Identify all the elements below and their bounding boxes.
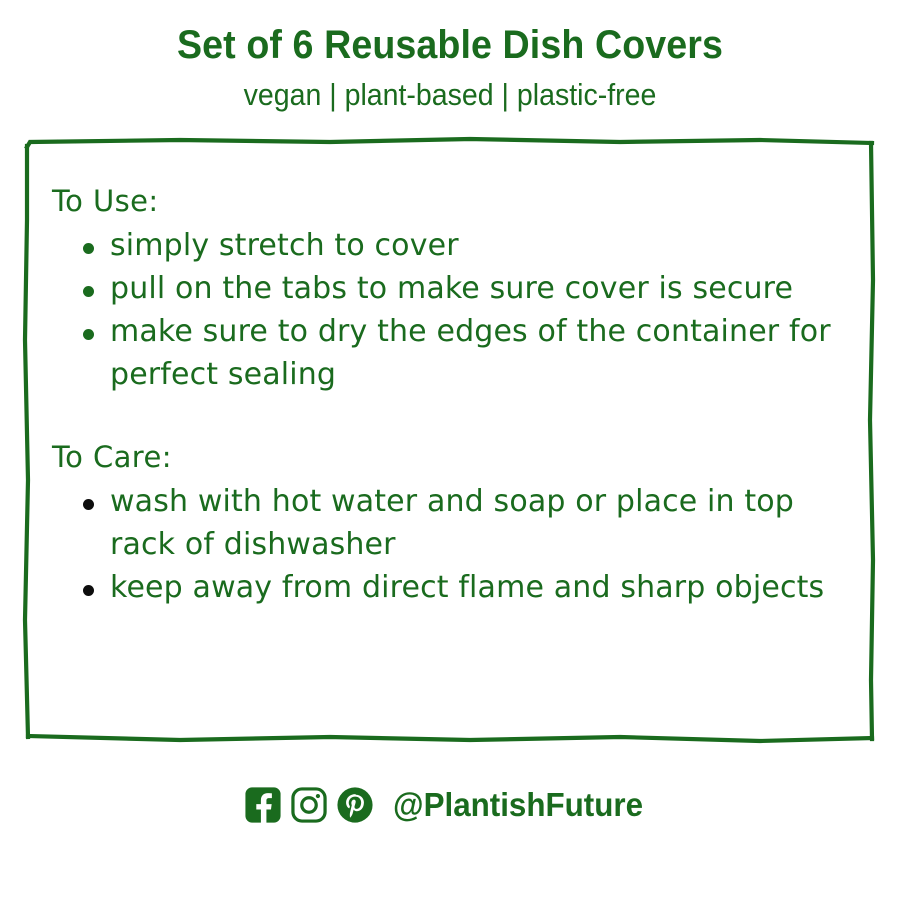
list-to-use: simply stretch to cover pull on the tabs…: [52, 224, 852, 396]
card-body: To Use: simply stretch to cover pull on …: [52, 182, 852, 609]
header: Set of 6 Reusable Dish Covers vegan | pl…: [0, 0, 900, 113]
facebook-icon[interactable]: [244, 786, 282, 824]
section-to-care: To Care: wash with hot water and soap or…: [52, 438, 852, 609]
list-item: keep away from direct flame and sharp ob…: [52, 566, 852, 609]
page-title: Set of 6 Reusable Dish Covers: [27, 0, 873, 68]
product-care-card: Set of 6 Reusable Dish Covers vegan | pl…: [0, 0, 900, 900]
section-heading-to-use: To Use:: [52, 182, 852, 220]
social-handle[interactable]: @PlantishFuture: [393, 786, 643, 824]
list-item: simply stretch to cover: [52, 224, 852, 267]
list-item: wash with hot water and soap or place in…: [52, 480, 852, 566]
section-to-use: To Use: simply stretch to cover pull on …: [52, 182, 852, 396]
list-item: pull on the tabs to make sure cover is s…: [52, 267, 852, 310]
instagram-icon[interactable]: [290, 786, 328, 824]
list-item: make sure to dry the edges of the contai…: [52, 310, 852, 396]
list-to-care: wash with hot water and soap or place in…: [52, 480, 852, 609]
section-heading-to-care: To Care:: [52, 438, 852, 476]
pinterest-icon[interactable]: [336, 786, 374, 824]
page-subtitle: vegan | plant-based | plastic-free: [36, 68, 864, 113]
social-icon-group: [244, 786, 374, 824]
footer: @PlantishFuture: [0, 786, 900, 824]
